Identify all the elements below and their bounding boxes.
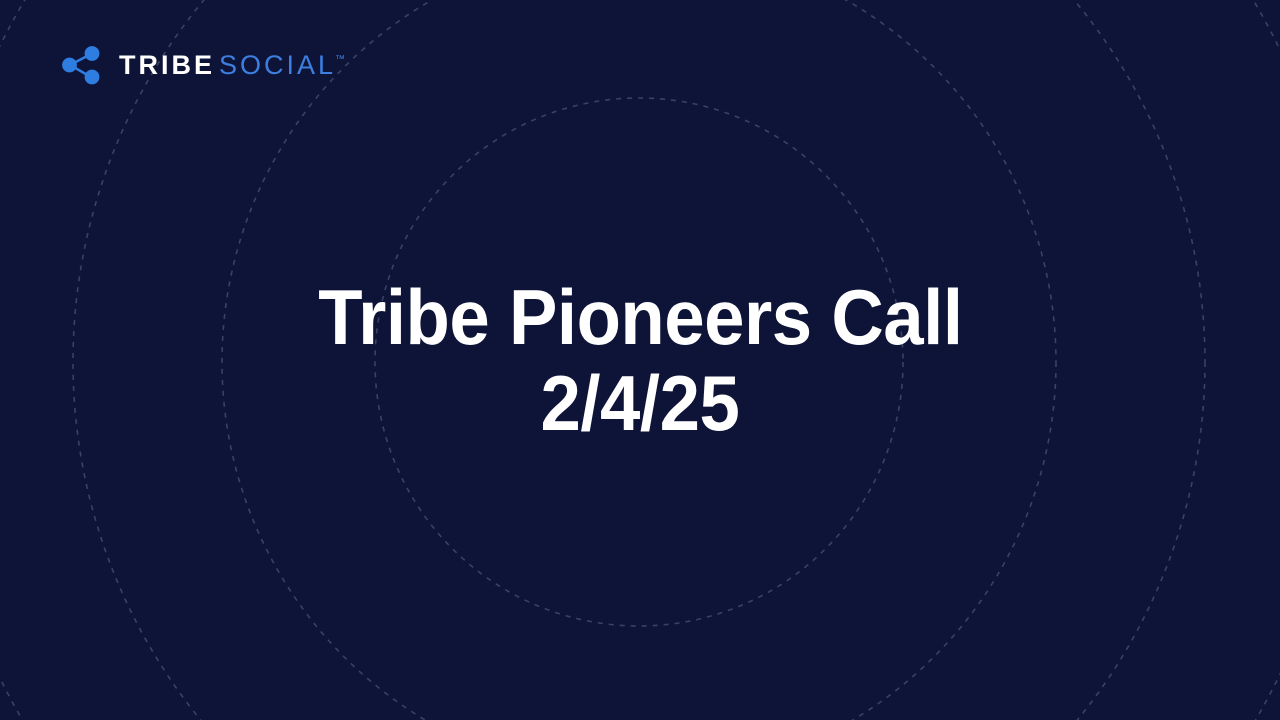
page-title: Tribe Pioneers Call	[318, 274, 962, 360]
slide-title-block: Tribe Pioneers Call 2/4/25	[0, 0, 1280, 720]
presentation-slide: TRIBE SOCIAL ™ Tribe Pioneers Call 2/4/2…	[0, 0, 1280, 720]
slide-date: 2/4/25	[541, 360, 740, 446]
